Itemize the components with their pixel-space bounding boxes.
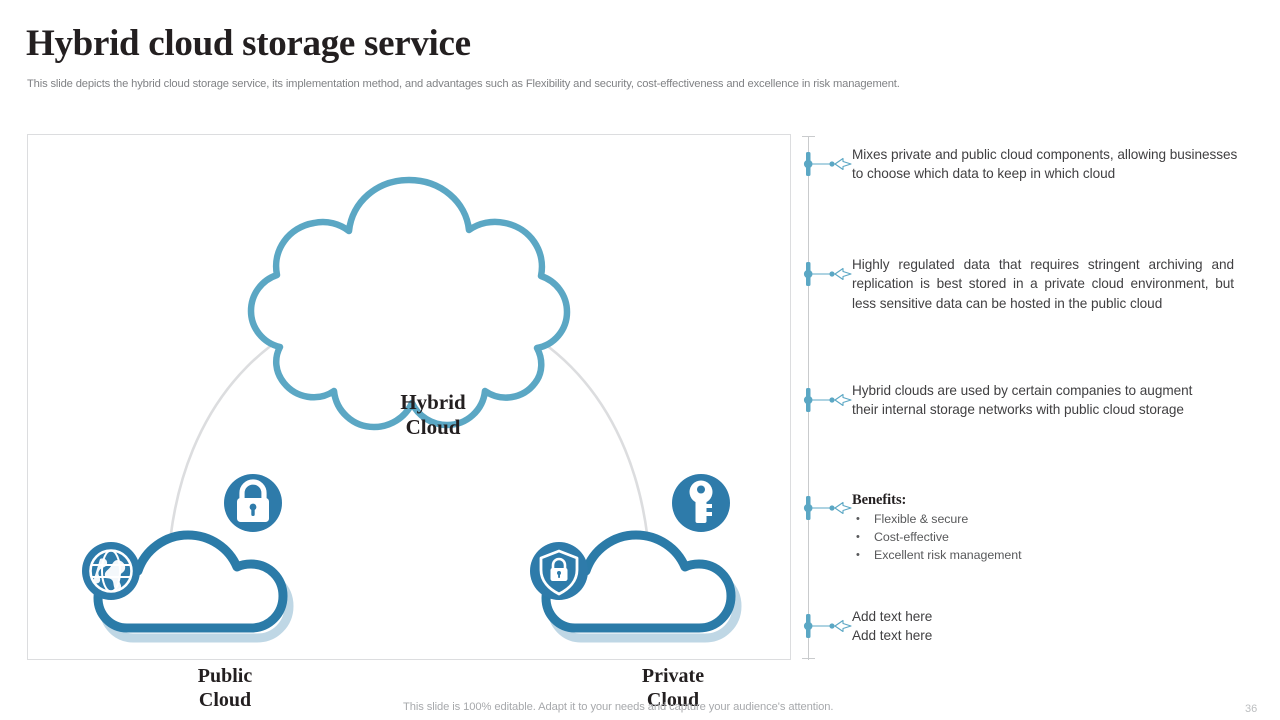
benefits-list: Flexible & secure Cost-effective Excelle…	[852, 510, 1252, 564]
benefits-list-item: Excellent risk management	[852, 546, 1252, 564]
bullet-rail: Mixes private and public cloud component…	[802, 134, 1280, 660]
rail-cap-top	[802, 136, 815, 137]
footer-note: This slide is 100% editable. Adapt it to…	[403, 701, 833, 713]
rail-cap-bottom	[802, 658, 815, 659]
key-icon	[672, 474, 730, 532]
benefits-list-item: Cost-effective	[852, 528, 1252, 546]
slide-canvas: Hybrid cloud storage service This slide …	[0, 0, 1280, 720]
bullet-text: Mixes private and public cloud component…	[852, 145, 1252, 184]
bullet-text: Add text here Add text here	[852, 607, 1252, 646]
hybrid-cloud-label-line2: Cloud	[358, 415, 508, 440]
hybrid-cloud-label: Hybrid Cloud	[358, 390, 508, 440]
shield-lock-icon	[530, 542, 588, 600]
diagram-frame: Hybrid Cloud Public Cloud Private Cloud	[27, 134, 791, 660]
page-subtitle: This slide depicts the hybrid cloud stor…	[27, 77, 900, 92]
benefits-heading: Benefits:	[852, 491, 1252, 509]
arrow-marker-icon	[802, 262, 854, 288]
arrow-marker-icon	[802, 152, 854, 178]
private-cloud-label-line1: Private	[598, 665, 748, 689]
arrow-marker-icon	[802, 614, 854, 640]
bullet-text: Hybrid clouds are used by certain compan…	[852, 381, 1202, 420]
arrow-marker-icon	[802, 388, 854, 414]
hybrid-cloud-label-line1: Hybrid	[358, 390, 508, 415]
public-cloud-label-line1: Public	[150, 665, 300, 689]
public-cloud-label-line2: Cloud	[150, 689, 300, 713]
page-number: 36	[1245, 703, 1257, 715]
benefits-list-item: Flexible & secure	[852, 510, 1252, 528]
bullet-text: Highly regulated data that requires stri…	[852, 255, 1234, 313]
arrow-marker-icon	[802, 496, 854, 522]
globe-icon	[82, 542, 140, 600]
padlock-icon	[224, 474, 282, 532]
public-cloud-label: Public Cloud	[150, 665, 300, 712]
page-title: Hybrid cloud storage service	[26, 22, 471, 66]
